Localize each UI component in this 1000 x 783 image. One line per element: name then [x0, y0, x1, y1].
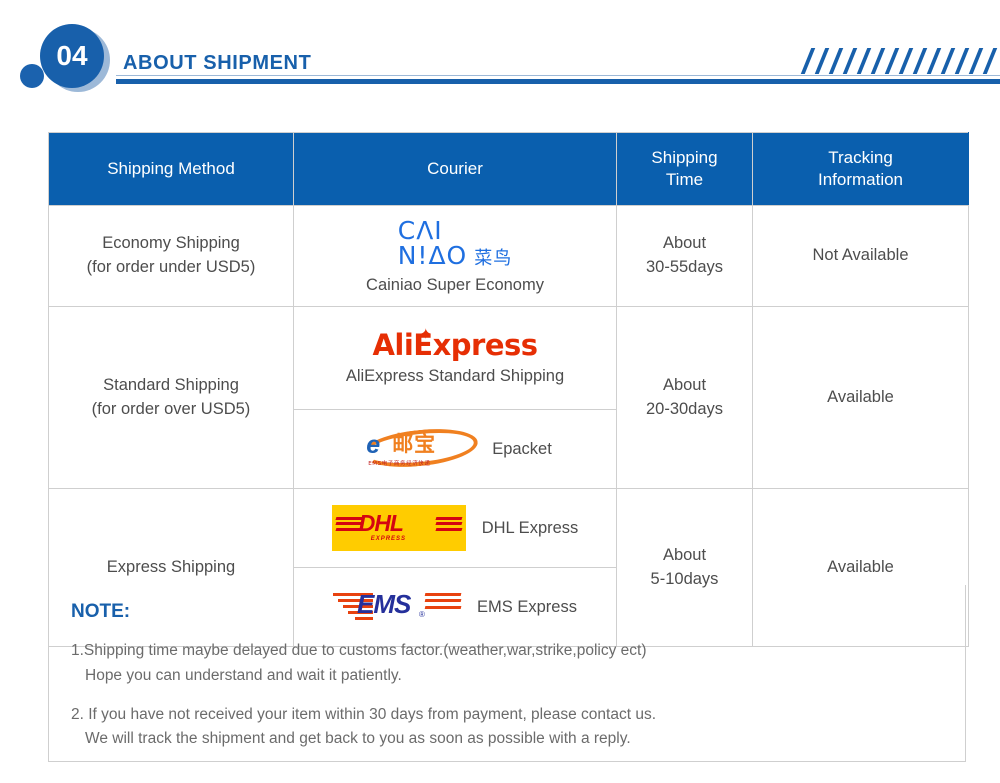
header-stripe: [953, 48, 971, 74]
dhl-logo: DHL EXPRESS: [332, 505, 466, 551]
courier-label-dhl: DHL Express: [482, 519, 579, 538]
header-stripe: [800, 48, 817, 74]
header-stripe: [897, 48, 915, 74]
note-item-1-line1: 1.Shipping time maybe delayed due to cus…: [71, 639, 943, 664]
shipping-table-container: Shipping Method Courier Shipping Time Tr…: [48, 132, 968, 647]
cainiao-wordmark: CΛI N!ΔO: [398, 218, 468, 269]
header-stripe: [981, 48, 999, 74]
cainiao-wordmark-line1: CΛI: [398, 218, 468, 244]
time-line2: 20-30days: [618, 398, 751, 422]
cell-shipping-method-economy: Economy Shipping (for order under USD5): [49, 206, 294, 307]
table-row: Express Shipping DHL EXPRESS DHL Express: [49, 489, 969, 568]
method-line2: (for order under USD5): [53, 256, 289, 280]
cainiao-wordmark-line2: N!ΔO: [398, 243, 468, 269]
note-item-2-line2: We will track the shipment and get back …: [71, 727, 943, 752]
header-stripe: [855, 48, 873, 74]
courier-caption-aliexpress: AliExpress Standard Shipping: [298, 367, 612, 386]
column-header-tracking-information: Tracking Information: [753, 133, 969, 206]
cainiao-chinese-text: 菜鸟: [474, 250, 512, 269]
note-item-1-line2: Hope you can understand and wait it pati…: [71, 664, 943, 689]
column-header-tracking-line2: Information: [754, 169, 967, 191]
courier-caption-cainiao: Cainiao Super Economy: [298, 276, 612, 295]
column-header-courier: Courier: [294, 133, 617, 206]
dhl-sub-wordmark: EXPRESS: [371, 536, 406, 542]
time-line1: About: [618, 544, 751, 568]
column-header-tracking-line1: Tracking: [754, 147, 967, 169]
header-stripe: [813, 48, 831, 74]
dhl-wordmark: DHL: [359, 512, 403, 535]
header-stripe: [883, 48, 901, 74]
cainiao-logo: CΛI N!ΔO 菜鸟: [298, 218, 612, 269]
cell-shipping-method-standard: Standard Shipping (for order over USD5): [49, 307, 294, 489]
badge-number: 04: [40, 24, 104, 88]
time-line1: About: [618, 232, 751, 256]
header-stripe: [841, 48, 859, 74]
note-title: NOTE:: [71, 601, 943, 623]
method-line1: Standard Shipping: [53, 374, 289, 398]
page-title: ABOUT SHIPMENT: [123, 52, 311, 75]
column-header-shipping-time-line1: Shipping: [618, 147, 751, 169]
cell-shipping-time-economy: About 30-55days: [617, 206, 753, 307]
time-line2: 30-55days: [618, 256, 751, 280]
header-stripe-decoration: [800, 48, 1000, 74]
cell-courier-aliexpress: AliExpress✦ AliExpress Standard Shipping: [294, 307, 617, 410]
cell-tracking-standard: Available: [753, 307, 969, 489]
column-header-shipping-time: Shipping Time: [617, 133, 753, 206]
header-rule: [116, 79, 1000, 84]
note-item-2-line1: 2. If you have not received your item wi…: [71, 703, 943, 728]
column-header-shipping-time-line2: Time: [618, 169, 751, 191]
header-rule-thin: [116, 75, 1000, 76]
table-row: Economy Shipping (for order under USD5) …: [49, 206, 969, 307]
time-line1: About: [618, 374, 751, 398]
column-header-shipping-method: Shipping Method: [49, 133, 294, 206]
courier-row-dhl: DHL EXPRESS DHL Express: [298, 505, 612, 551]
dhl-speed-lines-right: [436, 517, 462, 531]
cell-shipping-time-standard: About 20-30days: [617, 307, 753, 489]
courier-row-epacket: e 邮宝 EMS电子商务经济快递 Epacket: [298, 428, 612, 470]
aliexpress-logo: AliExpress✦: [372, 330, 537, 360]
note-box: NOTE: 1.Shipping time maybe delayed due …: [48, 585, 966, 762]
header-stripe: [911, 48, 929, 74]
shipping-table: Shipping Method Courier Shipping Time Tr…: [48, 132, 969, 647]
epacket-logo: e 邮宝 EMS电子商务经济快递: [358, 428, 476, 470]
cell-tracking-economy: Not Available: [753, 206, 969, 307]
epacket-tagline: EMS电子商务经济快递: [368, 459, 430, 467]
epacket-chinese-text: 邮宝: [392, 434, 436, 455]
method-line2: (for order over USD5): [53, 398, 289, 422]
table-row: Standard Shipping (for order over USD5) …: [49, 307, 969, 410]
method-line1: Express Shipping: [53, 556, 289, 580]
cell-courier-dhl: DHL EXPRESS DHL Express: [294, 489, 617, 568]
decorative-dot: [20, 64, 44, 88]
section-header: 04 ABOUT SHIPMENT: [0, 0, 1000, 112]
header-stripe: [939, 48, 957, 74]
epacket-e-letter: e: [366, 433, 380, 458]
header-stripe: [925, 48, 943, 74]
cell-courier-epacket: e 邮宝 EMS电子商务经济快递 Epacket: [294, 410, 617, 489]
note-item-1: 1.Shipping time maybe delayed due to cus…: [71, 639, 943, 689]
courier-label-epacket: Epacket: [492, 440, 552, 459]
header-stripe: [827, 48, 845, 74]
header-stripe: [967, 48, 985, 74]
cell-courier-cainiao: CΛI N!ΔO 菜鸟 Cainiao Super Economy: [294, 206, 617, 307]
aliexpress-sparkle-icon: ✦: [419, 327, 431, 342]
method-line1: Economy Shipping: [53, 232, 289, 256]
header-stripe: [869, 48, 887, 74]
table-header-row: Shipping Method Courier Shipping Time Tr…: [49, 133, 969, 206]
note-item-2: 2. If you have not received your item wi…: [71, 703, 943, 753]
